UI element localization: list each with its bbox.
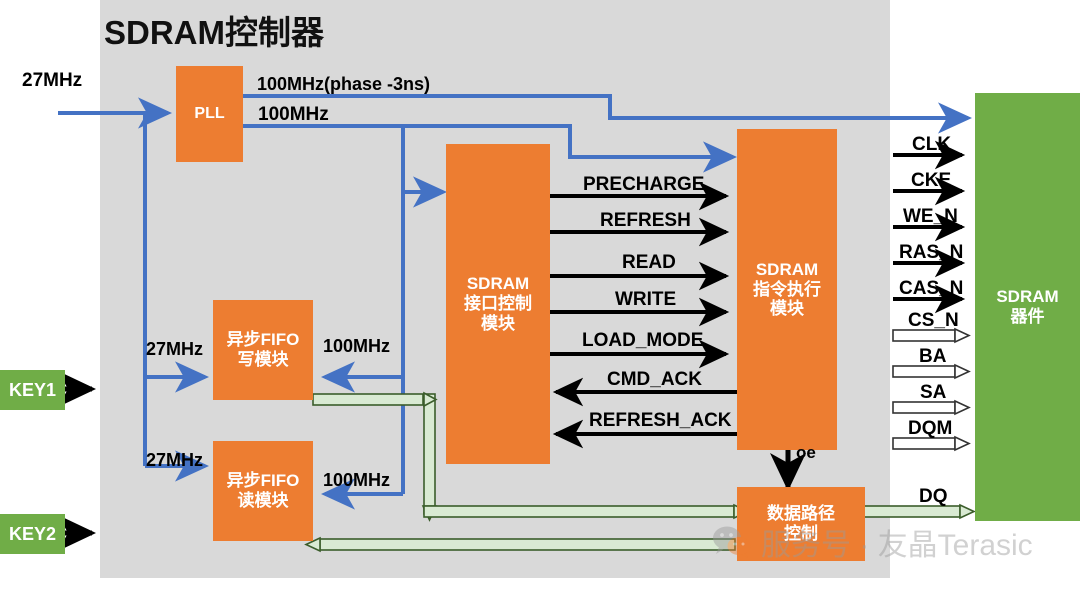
iface-label-1: SDRAM — [467, 274, 529, 294]
cmd-label-1: SDRAM — [756, 260, 818, 280]
label-fifo-read-27mhz: 27MHz — [146, 450, 203, 471]
block-pll[interactable]: PLL — [176, 66, 243, 162]
fifo-read-label-1: 异步FIFO — [227, 471, 300, 491]
label-fifo-read-100mhz: 100MHz — [323, 470, 390, 491]
sdram-signal-label-sa: SA — [920, 382, 946, 404]
fifo-read-label-2: 读模块 — [238, 491, 289, 511]
cmd-label-2: 指令执行 — [753, 280, 821, 300]
sdram-signal-label-cas-n: CAS_N — [899, 278, 963, 300]
block-key1[interactable]: KEY1 — [0, 370, 65, 410]
fifo-write-label-2: 写模块 — [238, 350, 289, 370]
signal-label-refresh: REFRESH — [600, 210, 691, 232]
block-key2[interactable]: KEY2 — [0, 514, 65, 554]
block-async-fifo-read[interactable]: 异步FIFO 读模块 — [213, 441, 313, 541]
signal-label-read: READ — [622, 252, 676, 274]
key2-label: KEY2 — [9, 524, 56, 545]
iface-label-3: 模块 — [481, 314, 515, 334]
signal-label-precharge: PRECHARGE — [583, 174, 704, 196]
label-100mhz: 100MHz — [258, 104, 329, 126]
label-fifo-write-27mhz: 27MHz — [146, 339, 203, 360]
label-oe: oe — [796, 443, 816, 463]
key1-label: KEY1 — [9, 380, 56, 401]
fifo-write-label-1: 异步FIFO — [227, 330, 300, 350]
signal-label-load-mode: LOAD_MODE — [582, 330, 703, 352]
signal-label-cmd-ack: CMD_ACK — [607, 369, 702, 391]
sdram-signal-label-ba: BA — [919, 346, 946, 368]
diagram-canvas: SDRAM控制器 — [0, 0, 1080, 591]
sdram-signal-label-dqm: DQM — [908, 418, 952, 440]
label-27mhz-input: 27MHz — [22, 70, 82, 92]
sdram-device-label-2: 器件 — [1011, 307, 1045, 327]
iface-label-2: 接口控制 — [464, 294, 532, 314]
block-sdram-command-exec[interactable]: SDRAM 指令执行 模块 — [737, 129, 837, 450]
sdram-signal-label-cs-n: CS_N — [908, 310, 959, 332]
sdram-signal-label-ras-n: RAS_N — [899, 242, 963, 264]
label-100mhz-phase: 100MHz(phase -3ns) — [257, 74, 430, 95]
sdram-signal-label-dq: DQ — [919, 486, 948, 508]
block-sdram-device[interactable]: SDRAM 器件 — [975, 93, 1080, 521]
wire-27mhz-input — [58, 113, 205, 466]
sdram-device-label-1: SDRAM — [996, 287, 1058, 307]
datapath-label-2: 控制 — [784, 524, 818, 544]
block-async-fifo-write[interactable]: 异步FIFO 写模块 — [213, 300, 313, 400]
signal-label-write: WRITE — [615, 289, 676, 311]
block-pll-label: PLL — [194, 105, 224, 124]
signal-label-refresh-ack: REFRESH_ACK — [589, 410, 732, 432]
block-sdram-interface-control[interactable]: SDRAM 接口控制 模块 — [446, 144, 550, 464]
sdram-signal-label-cke: CKE — [911, 170, 951, 192]
label-fifo-write-100mhz: 100MHz — [323, 336, 390, 357]
wire-100mhz-phase — [243, 96, 968, 118]
sdram-signal-label-we-n: WE_N — [903, 206, 958, 228]
data-bus-read — [306, 538, 735, 551]
cmd-label-3: 模块 — [770, 299, 804, 319]
sdram-signal-label-clk: CLK — [912, 134, 951, 156]
block-data-path-control[interactable]: 数据路径 控制 — [737, 487, 865, 561]
datapath-label-1: 数据路径 — [767, 504, 835, 524]
key-arrows — [64, 389, 92, 533]
